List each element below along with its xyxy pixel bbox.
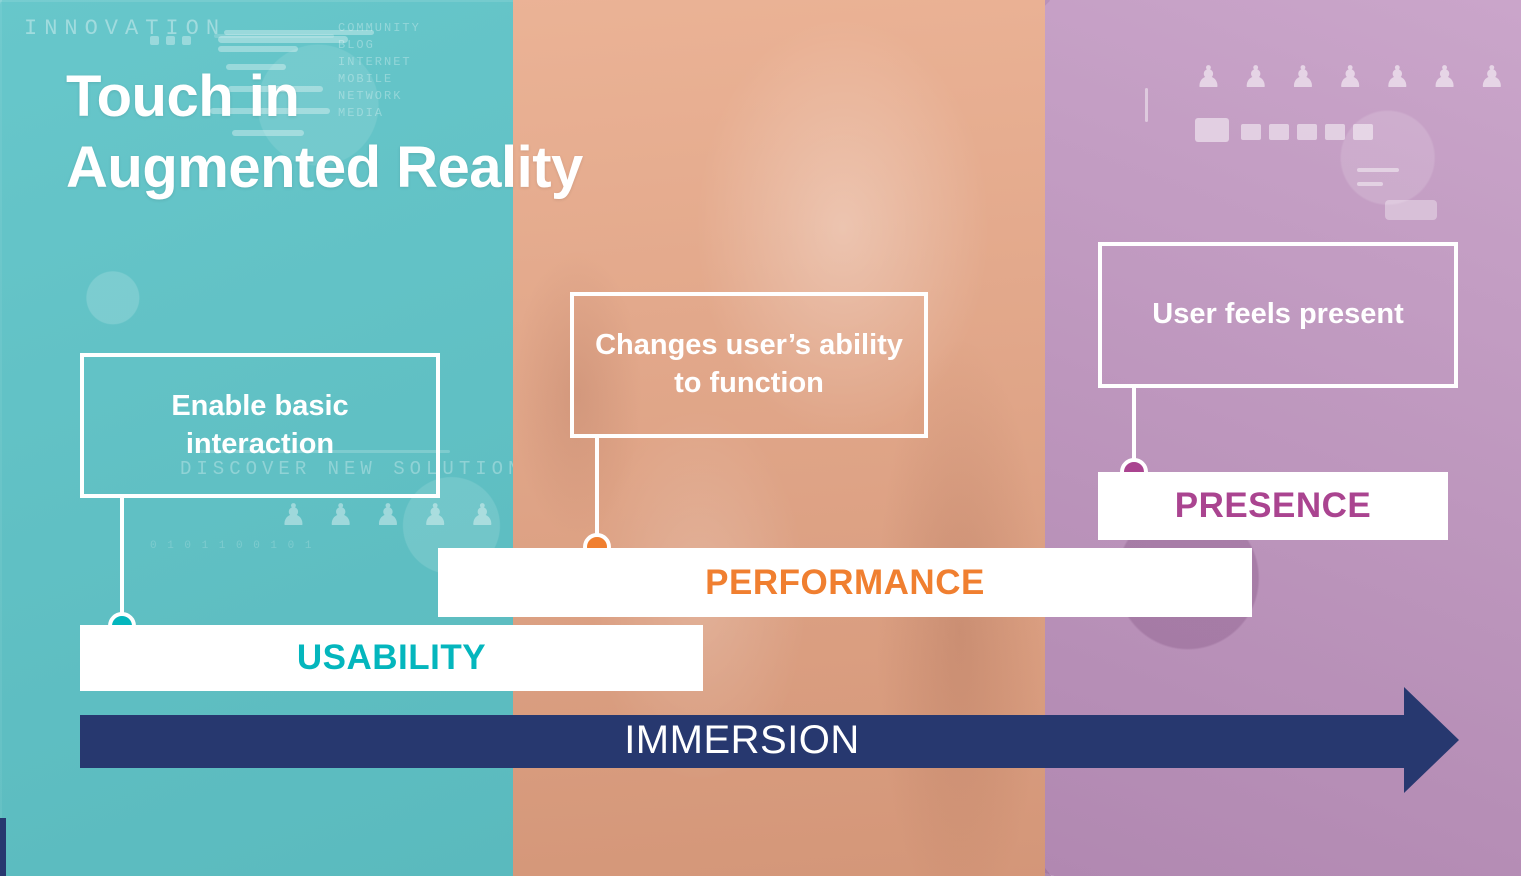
deco-square-4	[1297, 124, 1317, 140]
deco-chip-3	[182, 36, 191, 45]
background-people-row: ♟ ♟ ♟ ♟ ♟ ♟ ♟ ♟	[280, 498, 513, 533]
connector-stem-usability	[120, 497, 124, 627]
deco-ghost-text-1: 0 1 0 1 1 0 0 1 0 1	[150, 540, 313, 552]
deco-chip-2	[166, 36, 175, 45]
callout-box-usability: Enable basic interaction	[80, 353, 440, 498]
deco-barline-2	[218, 46, 298, 52]
deco-tick-1	[1145, 88, 1148, 122]
deco-square-6	[1353, 124, 1373, 140]
slide-canvas: INNOVATION DISCOVER NEW SOLUTIONS COMMUN…	[0, 0, 1521, 876]
deco-square-5	[1325, 124, 1345, 140]
callout-text-performance: Changes user’s ability to function	[588, 327, 910, 402]
callout-box-presence: User feels present	[1098, 242, 1458, 388]
page-title: Touch in Augmented Reality	[66, 62, 583, 204]
background-label-innovation: INNOVATION	[24, 16, 226, 41]
level-bar-presence: PRESENCE	[1098, 472, 1448, 540]
immersion-axis-label-wrap: IMMERSION	[80, 687, 1404, 793]
callout-box-performance: Changes user’s ability to function	[570, 292, 928, 438]
deco-chip-1	[150, 36, 159, 45]
level-bar-usability: USABILITY	[80, 625, 703, 691]
immersion-axis-arrow: IMMERSION	[80, 687, 1459, 793]
left-edge-accent	[0, 818, 6, 876]
deco-barline-4	[214, 34, 334, 38]
deco-tick-3	[1357, 182, 1383, 186]
deco-tick-2	[1357, 168, 1399, 172]
callout-text-presence: User feels present	[1152, 296, 1403, 334]
level-label-usability: USABILITY	[297, 638, 486, 678]
deco-square-2	[1241, 124, 1261, 140]
level-bar-performance: PERFORMANCE	[438, 548, 1252, 617]
immersion-axis-label: IMMERSION	[624, 718, 860, 763]
deco-bar-chart	[1385, 200, 1437, 220]
level-label-presence: PRESENCE	[1175, 486, 1372, 526]
deco-square-3	[1269, 124, 1289, 140]
level-label-performance: PERFORMANCE	[705, 563, 985, 603]
deco-square-1	[1195, 118, 1229, 142]
callout-text-usability: Enable basic interaction	[98, 388, 422, 463]
background-people-row-purple: ♟ ♟ ♟ ♟ ♟ ♟ ♟ ♟	[1195, 60, 1521, 95]
